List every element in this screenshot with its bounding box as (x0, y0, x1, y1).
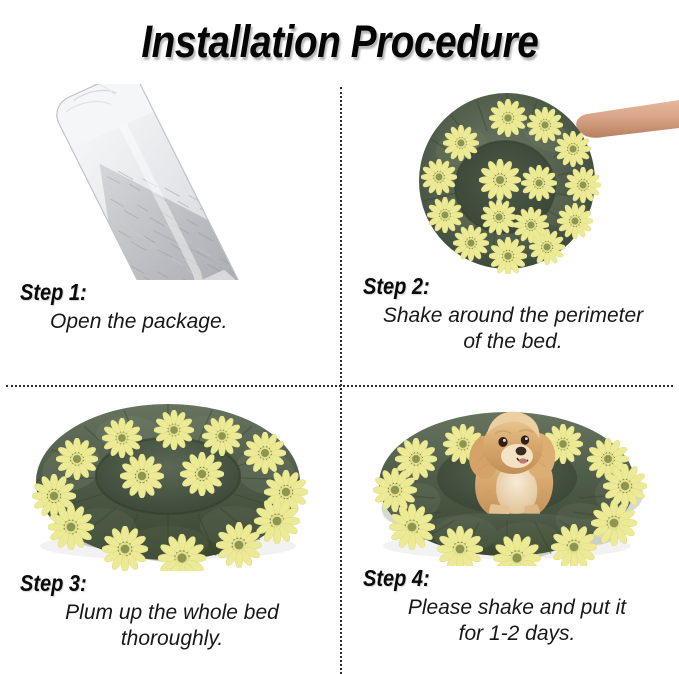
step-label-3: Step 3: (20, 571, 290, 595)
rolled-packaged-bed-photo (0, 84, 340, 280)
step-text-1: Open the package. (20, 309, 330, 335)
page-title: Installation Procedure (141, 16, 538, 68)
step-panel-4: Step 4: Please shake and put it for 1-2 … (341, 386, 679, 674)
fluffed-bed-photo (0, 386, 340, 571)
step-text-3: Plum up the whole bed thoroughly. (20, 600, 330, 651)
step-panel-1: Step 1: Open the package. (0, 84, 340, 385)
step-caption-1: Step 1: Open the package. (0, 280, 340, 335)
step-caption-4: Step 4: Please shake and put it for 1-2 … (341, 566, 679, 646)
step-text-2: Shake around the perimeter of the bed. (363, 303, 669, 354)
step-caption-3: Step 3: Plum up the whole bed thoroughly… (0, 571, 340, 651)
step-label-2: Step 2: (363, 274, 629, 298)
step-caption-2: Step 2: Shake around the perimeter of th… (341, 274, 679, 354)
step-panel-3: Step 3: Plum up the whole bed thoroughly… (0, 386, 340, 674)
step-label-1: Step 1: (20, 280, 290, 304)
step-label-4: Step 4: (363, 566, 629, 590)
step-panel-2: Step 2: Shake around the perimeter of th… (341, 84, 679, 385)
bed-with-hand-photo (341, 84, 679, 274)
step-text-4: Please shake and put it for 1-2 days. (363, 595, 669, 646)
bed-with-dog-photo (341, 386, 679, 566)
page-header: Installation Procedure (0, 0, 679, 84)
